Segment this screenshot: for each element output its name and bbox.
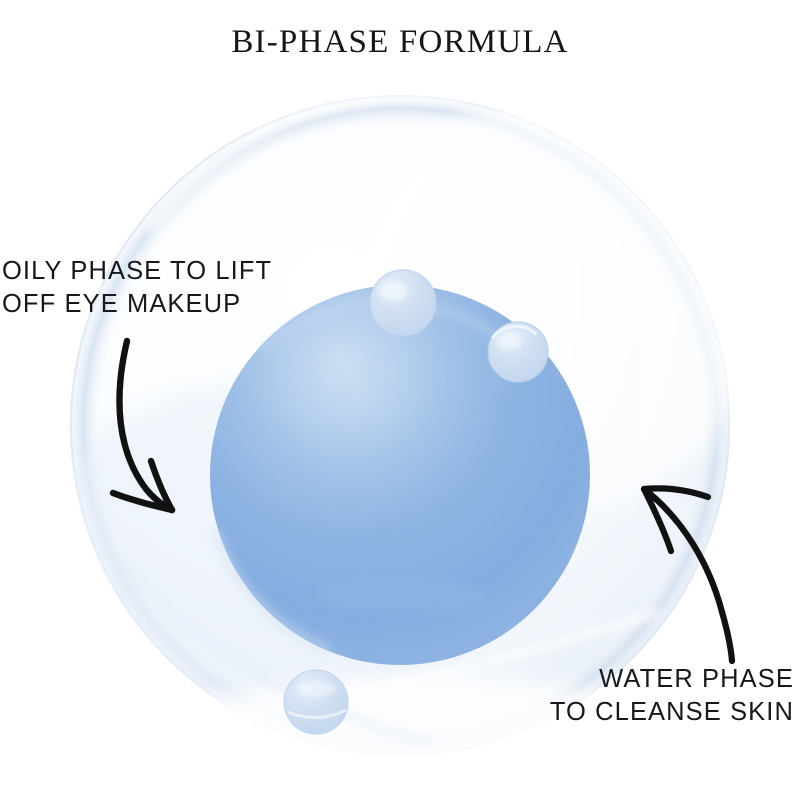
oily-phase-callout-line-2: OFF EYE MAKEUP — [2, 288, 272, 321]
oily-phase-callout-line-1: OILY PHASE TO LIFT — [2, 255, 272, 288]
water-phase-callout-line-1: WATER PHASE — [550, 663, 794, 696]
droplet-top — [370, 270, 436, 336]
droplet-right — [488, 322, 548, 382]
droplet-bottom — [284, 670, 348, 734]
product-infographic: BI-PHASE FORMULA — [0, 0, 800, 800]
water-phase-callout: WATER PHASE TO CLEANSE SKIN — [550, 663, 794, 729]
water-phase-callout-line-2: TO CLEANSE SKIN — [550, 696, 794, 729]
oily-phase-callout: OILY PHASE TO LIFT OFF EYE MAKEUP — [2, 255, 272, 321]
